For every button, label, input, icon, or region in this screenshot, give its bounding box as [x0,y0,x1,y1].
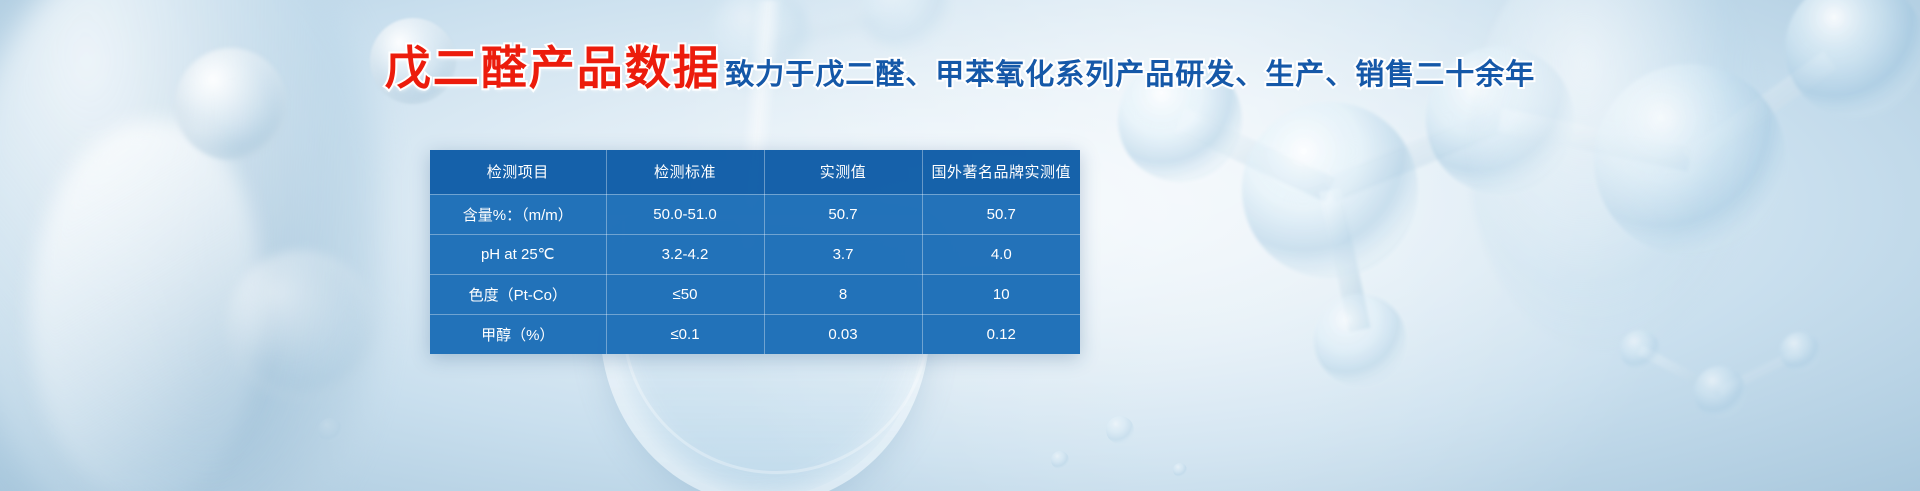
cell-standard: ≤0.1 [606,314,764,354]
table-row: 甲醇（%） ≤0.1 0.03 0.12 [430,314,1080,354]
cell-item: 色度（Pt-Co） [430,274,606,314]
table-row: pH at 25℃ 3.2-4.2 3.7 4.0 [430,234,1080,274]
cell-measured: 50.7 [764,194,922,234]
page-subtitle: 致力于戊二醛、甲苯氧化系列产品研发、生产、销售二十余年 [725,60,1535,92]
table-body: 含量%：（m/m） 50.0-51.0 50.7 50.7 pH at 25℃ … [430,194,1080,354]
table-row: 色度（Pt-Co） ≤50 8 10 [430,274,1080,314]
headline-block: 戊二醛产品数据 致力于戊二醛、甲苯氧化系列产品研发、生产、销售二十余年 [0,44,1920,92]
cell-standard: 3.2-4.2 [606,234,764,274]
cell-item: 含量%：（m/m） [430,194,606,234]
bubble-decoration [226,250,376,400]
column-header-standard: 检测标准 [606,150,764,194]
cell-item: 甲醇（%） [430,314,606,354]
table-head: 检测项目 检测标准 实测值 国外著名品牌实测值 [430,150,1080,194]
cell-standard: ≤50 [606,274,764,314]
cell-foreign: 4.0 [922,234,1080,274]
cell-measured: 0.03 [764,314,922,354]
column-header-item: 检测项目 [430,150,606,194]
cell-foreign: 10 [922,274,1080,314]
page-title: 戊二醛产品数据 [385,44,721,92]
table-header-row: 检测项目 检测标准 实测值 国外著名品牌实测值 [430,150,1080,194]
cell-foreign: 50.7 [922,194,1080,234]
cell-standard: 50.0-51.0 [606,194,764,234]
product-spec-table: 检测项目 检测标准 实测值 国外著名品牌实测值 含量%：（m/m） 50.0-5… [430,150,1080,354]
cell-item: pH at 25℃ [430,234,606,274]
table-row: 含量%：（m/m） 50.0-51.0 50.7 50.7 [430,194,1080,234]
column-header-foreign: 国外著名品牌实测值 [922,150,1080,194]
cell-foreign: 0.12 [922,314,1080,354]
column-header-measured: 实测值 [764,150,922,194]
product-data-banner: 戊二醛产品数据 致力于戊二醛、甲苯氧化系列产品研发、生产、销售二十余年 检测项目… [0,0,1920,491]
cell-measured: 8 [764,274,922,314]
cell-measured: 3.7 [764,234,922,274]
spec-table-container: 检测项目 检测标准 实测值 国外著名品牌实测值 含量%：（m/m） 50.0-5… [430,150,1080,354]
